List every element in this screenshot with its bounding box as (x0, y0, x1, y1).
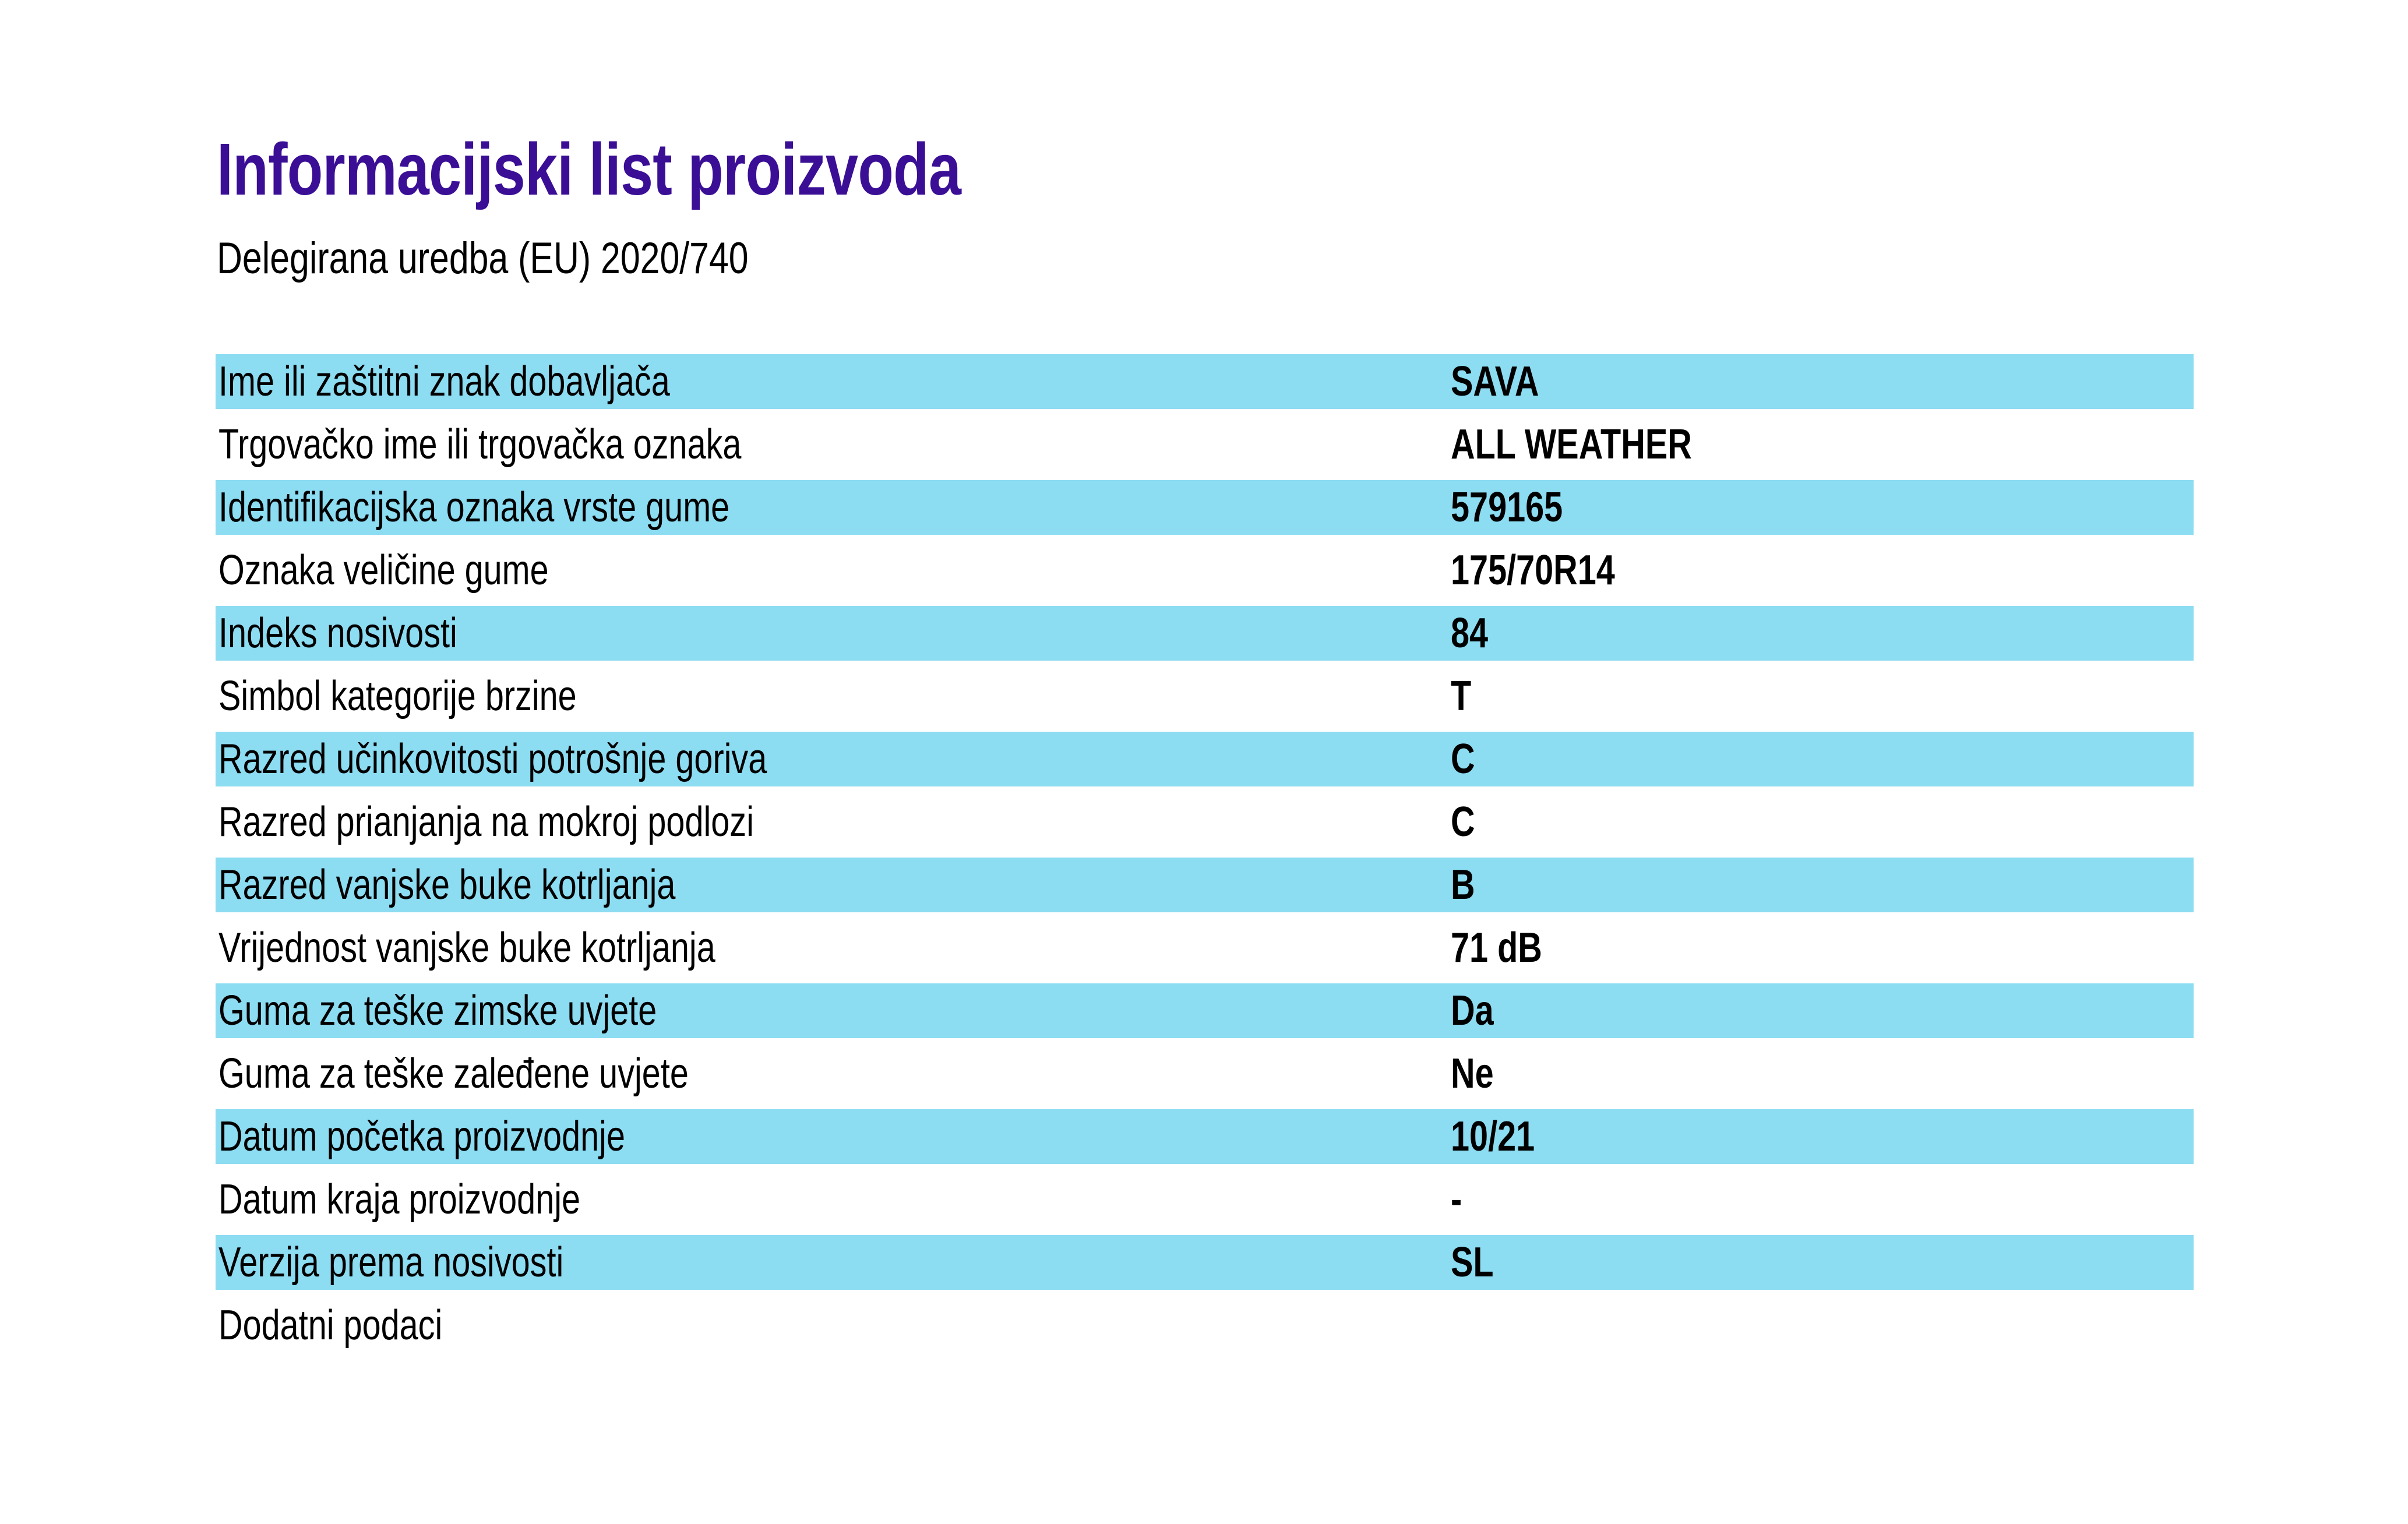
page-title: Informacijski list proizvoda (217, 133, 1801, 206)
specification-table: Ime ili zaštitni znak dobavljačaSAVATrgo… (216, 354, 2194, 1361)
spec-label: Oznaka veličine gume (218, 543, 549, 598)
table-row: Verzija prema nosivostiSL (216, 1235, 2194, 1290)
spec-value: ALL WEATHER (1451, 417, 1692, 472)
table-row: Razred učinkovitosti potrošnje gorivaC (216, 732, 2194, 786)
spec-value: SL (1451, 1235, 1494, 1290)
spec-label: Guma za teške zimske uvjete (218, 983, 657, 1038)
spec-label: Identifikacijska oznaka vrste gume (218, 480, 729, 535)
table-row: Indeks nosivosti84 (216, 606, 2194, 661)
spec-value: 84 (1451, 606, 1488, 661)
table-row: Guma za teške zimske uvjeteDa (216, 983, 2194, 1038)
table-row: Razred vanjske buke kotrljanjaB (216, 858, 2194, 912)
spec-label: Razred učinkovitosti potrošnje goriva (218, 732, 767, 786)
table-row: Razred prianjanja na mokroj podloziC (216, 795, 2194, 849)
spec-label: Vrijednost vanjske buke kotrljanja (218, 920, 715, 975)
spec-value: 10/21 (1451, 1109, 1535, 1164)
spec-label: Razred prianjanja na mokroj podlozi (218, 795, 754, 849)
table-row: Dodatni podaci (216, 1298, 2194, 1353)
spec-label: Razred vanjske buke kotrljanja (218, 858, 675, 912)
table-row: Simbol kategorije brzineT (216, 669, 2194, 724)
table-row: Vrijednost vanjske buke kotrljanja71 dB (216, 920, 2194, 975)
table-row: Datum kraja proizvodnje- (216, 1172, 2194, 1227)
table-row: Identifikacijska oznaka vrste gume579165 (216, 480, 2194, 535)
spec-label: Dodatni podaci (218, 1298, 442, 1353)
spec-value: C (1451, 795, 1475, 849)
spec-value: 579165 (1451, 480, 1563, 535)
spec-value: B (1451, 858, 1475, 912)
spec-value: 175/70R14 (1451, 543, 1615, 598)
spec-label: Datum početka proizvodnje (218, 1109, 625, 1164)
spec-label: Ime ili zaštitni znak dobavljača (218, 354, 670, 409)
spec-value: Da (1451, 983, 1494, 1038)
spec-value: 71 dB (1451, 920, 1542, 975)
spec-label: Indeks nosivosti (218, 606, 457, 661)
table-row: Oznaka veličine gume175/70R14 (216, 543, 2194, 598)
table-row: Trgovačko ime ili trgovačka oznakaALL WE… (216, 417, 2194, 472)
spec-label: Guma za teške zaleđene uvjete (218, 1046, 689, 1101)
table-row: Ime ili zaštitni znak dobavljačaSAVA (216, 354, 2194, 409)
table-row: Guma za teške zaleđene uvjeteNe (216, 1046, 2194, 1101)
document-header: Informacijski list proizvoda Delegirana … (217, 133, 2198, 281)
table-row: Datum početka proizvodnje10/21 (216, 1109, 2194, 1164)
spec-label: Simbol kategorije brzine (218, 669, 577, 724)
regulation-subtitle: Delegirana uredba (EU) 2020/740 (217, 206, 1801, 281)
spec-value: SAVA (1451, 354, 1539, 409)
spec-label: Verzija prema nosivosti (218, 1235, 563, 1290)
spec-value: C (1451, 732, 1475, 786)
spec-label: Trgovačko ime ili trgovačka oznaka (218, 417, 741, 472)
spec-value: T (1451, 669, 1471, 724)
spec-value: - (1451, 1172, 1462, 1227)
spec-value: Ne (1451, 1046, 1494, 1101)
spec-label: Datum kraja proizvodnje (218, 1172, 580, 1227)
product-information-sheet: Informacijski list proizvoda Delegirana … (0, 0, 2408, 1524)
